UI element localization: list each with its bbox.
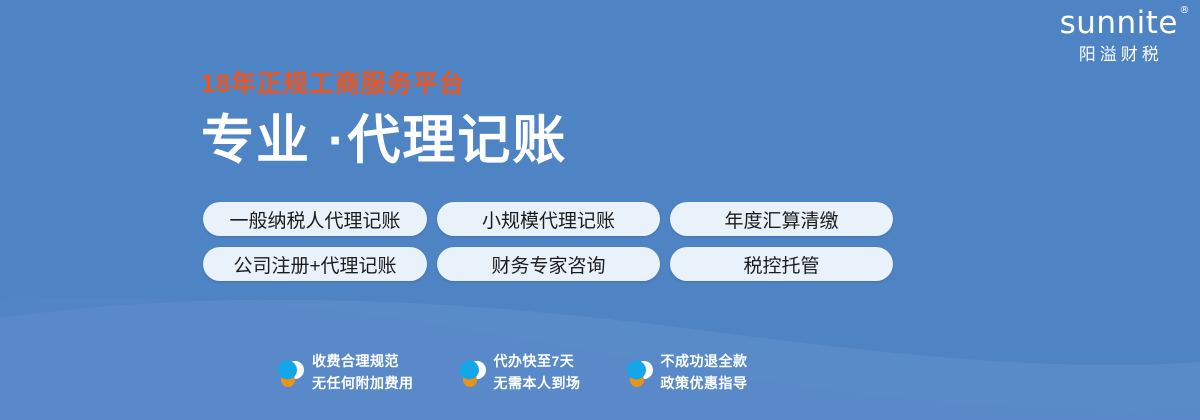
feature-text-refund: 不成功退全款 政策优惠指导 xyxy=(661,351,748,394)
overlapping-circles-icon xyxy=(276,357,304,389)
service-pill-grid: 一般纳税人代理记账 小规模代理记账 年度汇算清缴 公司注册+代理记账 财务专家咨… xyxy=(203,202,893,281)
service-pill-row: 公司注册+代理记账 财务专家咨询 税控托管 xyxy=(203,247,893,281)
service-pill-tax-control-hosting[interactable]: 税控托管 xyxy=(670,247,893,281)
overlapping-circles-icon xyxy=(625,357,653,389)
service-pill-company-registration[interactable]: 公司注册+代理记账 xyxy=(203,247,427,281)
brand-sub-name: 阳溢财税 xyxy=(1060,46,1178,63)
feature-list: 收费合理规范 无任何附加费用 代办快至7天 无需本人到场 xyxy=(276,351,748,394)
feature-item-refund: 不成功退全款 政策优惠指导 xyxy=(625,351,748,394)
feature-line-2: 无需本人到场 xyxy=(494,373,581,395)
headline-group: 18年正规工商服务平台 专业 ·代理记账 xyxy=(201,72,567,169)
brand-wordmark: sunnite ® xyxy=(1060,8,1178,39)
service-pill-small-scale[interactable]: 小规模代理记账 xyxy=(437,202,660,236)
feature-text-pricing: 收费合理规范 无任何附加费用 xyxy=(312,351,414,394)
feature-item-speed: 代办快至7天 无需本人到场 xyxy=(458,351,581,394)
headline-kicker: 18年正规工商服务平台 xyxy=(201,72,567,97)
feature-line-2: 无任何附加费用 xyxy=(312,373,414,395)
overlapping-circles-icon xyxy=(458,357,486,389)
feature-line-1: 收费合理规范 xyxy=(312,353,399,369)
feature-line-1: 不成功退全款 xyxy=(661,353,748,369)
service-pill-annual-settlement[interactable]: 年度汇算清缴 xyxy=(670,202,893,236)
service-pill-general-taxpayer[interactable]: 一般纳税人代理记账 xyxy=(203,202,427,236)
service-pill-row: 一般纳税人代理记账 小规模代理记账 年度汇算清缴 xyxy=(203,202,893,236)
feature-line-1: 代办快至7天 xyxy=(494,353,575,369)
brand-logo[interactable]: sunnite ® 阳溢财税 xyxy=(1060,8,1178,63)
feature-item-pricing: 收费合理规范 无任何附加费用 xyxy=(276,351,414,394)
feature-line-2: 政策优惠指导 xyxy=(661,373,748,395)
feature-text-speed: 代办快至7天 无需本人到场 xyxy=(494,351,581,394)
service-pill-finance-consulting[interactable]: 财务专家咨询 xyxy=(437,247,660,281)
marketing-banner: sunnite ® 阳溢财税 18年正规工商服务平台 专业 ·代理记账 一般纳税… xyxy=(0,0,1200,420)
registered-trademark-icon: ® xyxy=(1180,6,1191,16)
page-title: 专业 ·代理记账 xyxy=(201,113,567,169)
brand-wordmark-text: sunnite xyxy=(1060,5,1178,41)
